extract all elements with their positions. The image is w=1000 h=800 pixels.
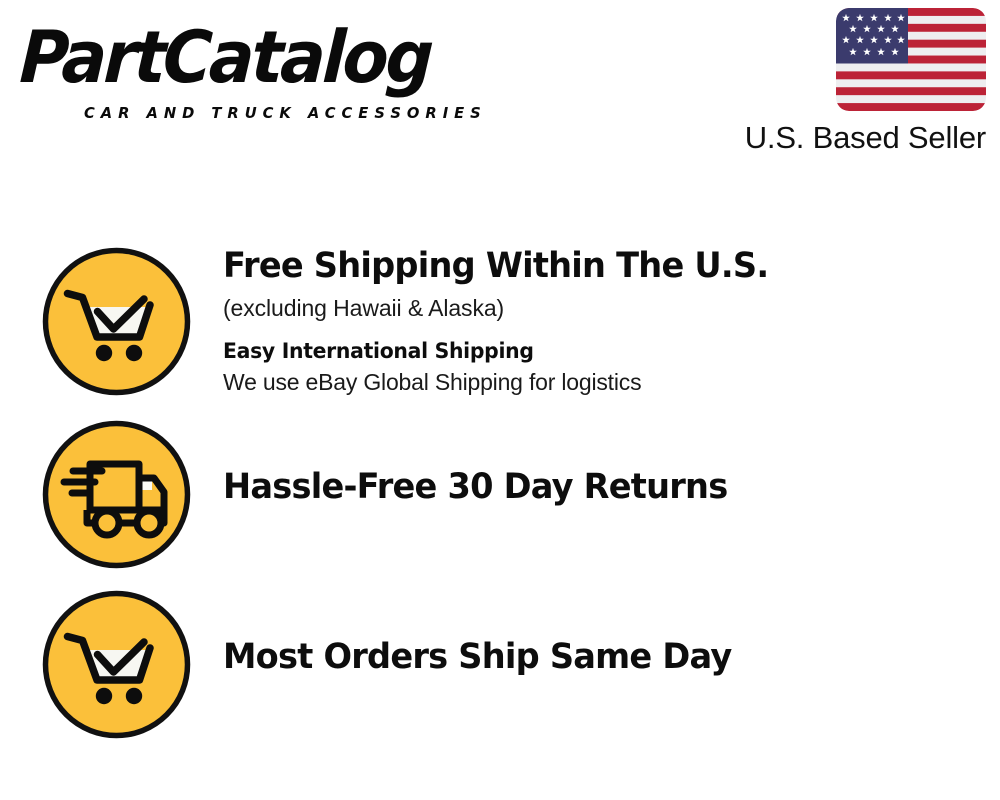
shopping-cart-check-icon — [40, 245, 193, 398]
feature-heading: Hassle-Free 30 Day Returns — [223, 466, 950, 508]
us-based-seller-block: U.S. Based Seller — [706, 8, 986, 156]
feature-row-same-day-ship: Most Orders Ship Same Day — [40, 588, 980, 741]
brand-wordmark: PartCatalog — [18, 18, 432, 96]
feature-text-same-day-ship: Most Orders Ship Same Day — [193, 588, 980, 678]
shopping-cart-check-icon — [40, 588, 193, 741]
feature-heading: Free Shipping Within The U.S. — [223, 245, 950, 287]
feature-text-free-shipping: Free Shipping Within The U.S. (excluding… — [193, 245, 980, 397]
brand-tagline: CAR AND TRUCK ACCESSORIES — [84, 104, 487, 122]
brand-logo: PartCatalog CAR AND TRUCK ACCESSORIES — [22, 18, 502, 118]
delivery-truck-icon — [40, 418, 193, 571]
feature-subtext: (excluding Hawaii & Alaska) — [223, 293, 980, 323]
us-based-seller-label: U.S. Based Seller — [706, 120, 986, 156]
feature-subtext-strong: Easy International Shipping — [223, 337, 957, 365]
feature-subtext-plain: We use eBay Global Shipping for logistic… — [223, 367, 980, 397]
feature-row-returns: Hassle-Free 30 Day Returns — [40, 418, 980, 571]
feature-text-returns: Hassle-Free 30 Day Returns — [193, 418, 980, 508]
feature-row-free-shipping: Free Shipping Within The U.S. (excluding… — [40, 245, 980, 398]
feature-heading: Most Orders Ship Same Day — [223, 636, 950, 678]
us-flag-icon — [836, 8, 986, 111]
